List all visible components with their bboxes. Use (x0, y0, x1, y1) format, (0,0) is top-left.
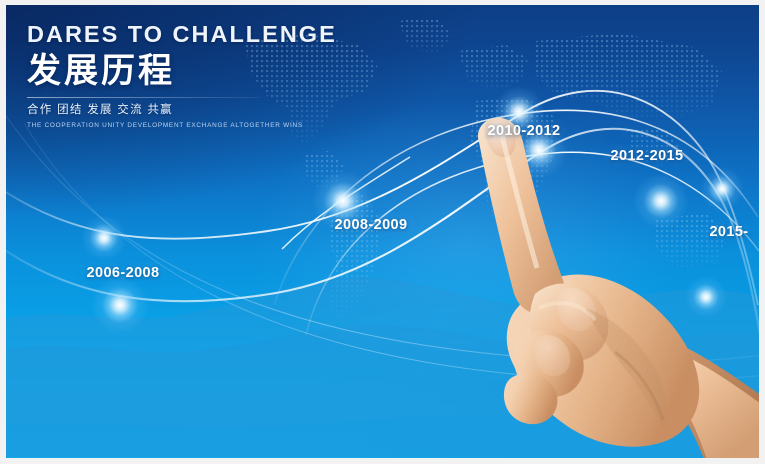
poster-canvas: DARES TO CHALLENGE 发展历程 合作 团结 发展 交流 共赢 T… (6, 5, 759, 458)
header-subtitle-en: THE COOPERATION UNITY DEVELOPMENT EXCHAN… (27, 123, 337, 129)
header-divider (27, 97, 259, 98)
header-block: DARES TO CHALLENGE 发展历程 合作 团结 发展 交流 共赢 T… (27, 23, 337, 129)
poster-root: DARES TO CHALLENGE 发展历程 合作 团结 发展 交流 共赢 T… (0, 0, 765, 464)
header-subtitle-cn: 合作 团结 发展 交流 共赢 (27, 105, 337, 117)
hand-pointing-up-graphic (465, 112, 759, 458)
page-title: 发展历程 (27, 54, 337, 90)
header-eyebrow: DARES TO CHALLENGE (27, 23, 337, 47)
